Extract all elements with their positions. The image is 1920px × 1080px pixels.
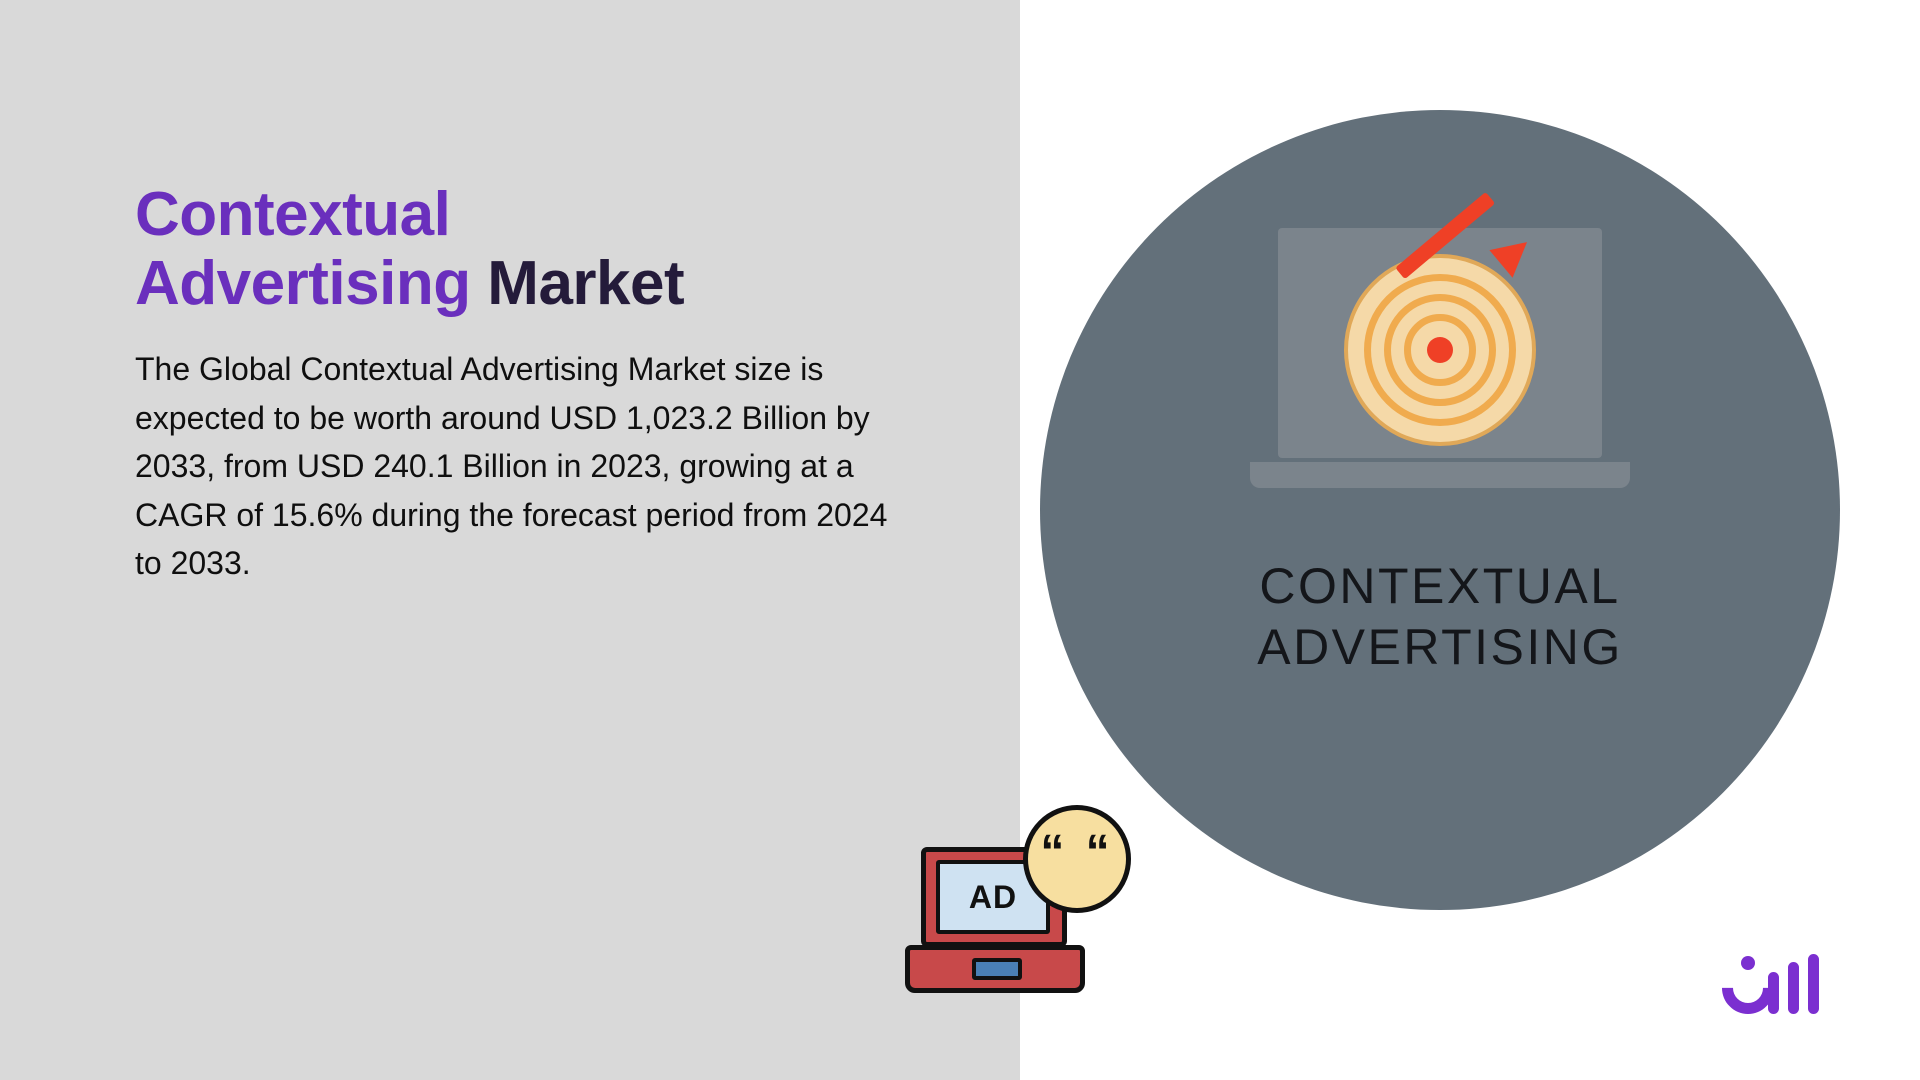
laptop-icon	[1250, 228, 1630, 498]
speech-bubble-icon: “ “	[1023, 805, 1131, 913]
infographic-page: Contextual Advertising Market The Global…	[0, 0, 1920, 1080]
quote-glyph: “ “	[1040, 829, 1113, 877]
title-line-2-dark: Market	[487, 249, 684, 318]
ad-sticker-base	[905, 945, 1085, 993]
badge-caption-line-1: CONTEXTUAL	[1257, 556, 1623, 617]
market-summary-paragraph: The Global Contextual Advertising Market…	[135, 345, 915, 588]
brand-logo	[1722, 948, 1850, 1028]
logo-bar-3	[1808, 954, 1819, 1014]
target-bullseye-center	[1427, 337, 1453, 363]
badge-caption-line-2: ADVERTISING	[1257, 617, 1623, 678]
logo-dot-shape	[1741, 956, 1755, 970]
ad-sticker-label: AD	[969, 879, 1017, 916]
circle-badge: CONTEXTUAL ADVERTISING	[1040, 110, 1840, 910]
badge-inner: CONTEXTUAL ADVERTISING	[1040, 110, 1840, 910]
laptop-base	[1250, 462, 1630, 488]
logo-bar-1	[1768, 972, 1779, 1014]
badge-caption: CONTEXTUAL ADVERTISING	[1257, 556, 1623, 678]
title-line-1: Contextual	[135, 180, 935, 249]
title-line-2-accent: Advertising	[135, 249, 471, 318]
ad-laptop-sticker: AD “ “	[905, 805, 1105, 1000]
page-title: Contextual Advertising Market	[135, 180, 935, 319]
target-bullseye-icon	[1344, 254, 1536, 446]
logo-bar-2	[1788, 962, 1799, 1014]
text-block: Contextual Advertising Market The Global…	[135, 180, 935, 588]
ad-sticker-trackpad	[972, 958, 1022, 980]
